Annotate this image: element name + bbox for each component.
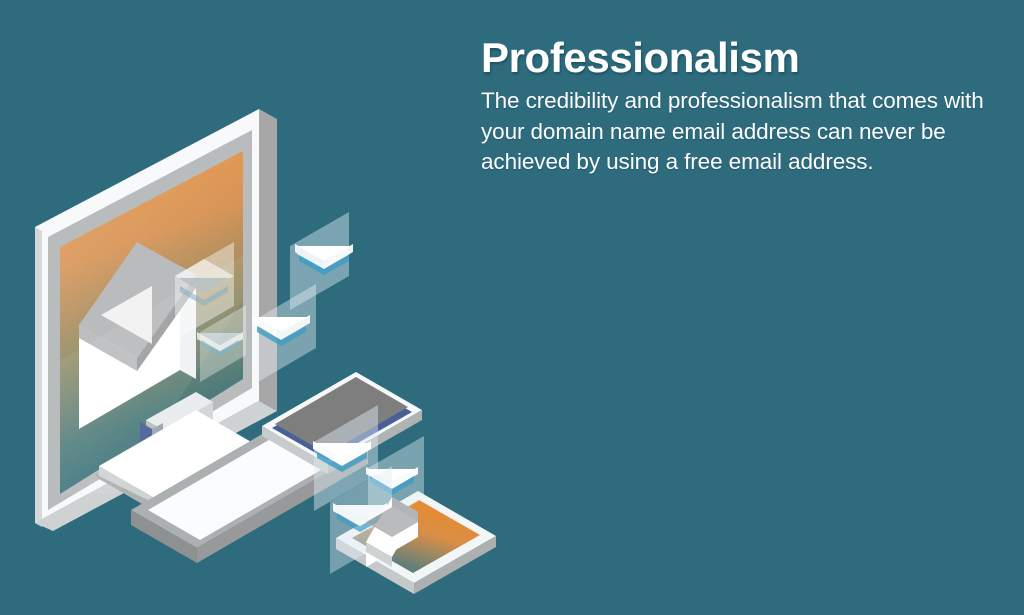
slide-canvas: Professionalism The credibility and prof… [0,0,1024,615]
text-block: Professionalism The credibility and prof… [481,36,1001,178]
page-title: Professionalism [481,36,1001,80]
isometric-email-illustration [0,70,520,615]
body-paragraph: The credibility and professionalism that… [481,86,1001,178]
